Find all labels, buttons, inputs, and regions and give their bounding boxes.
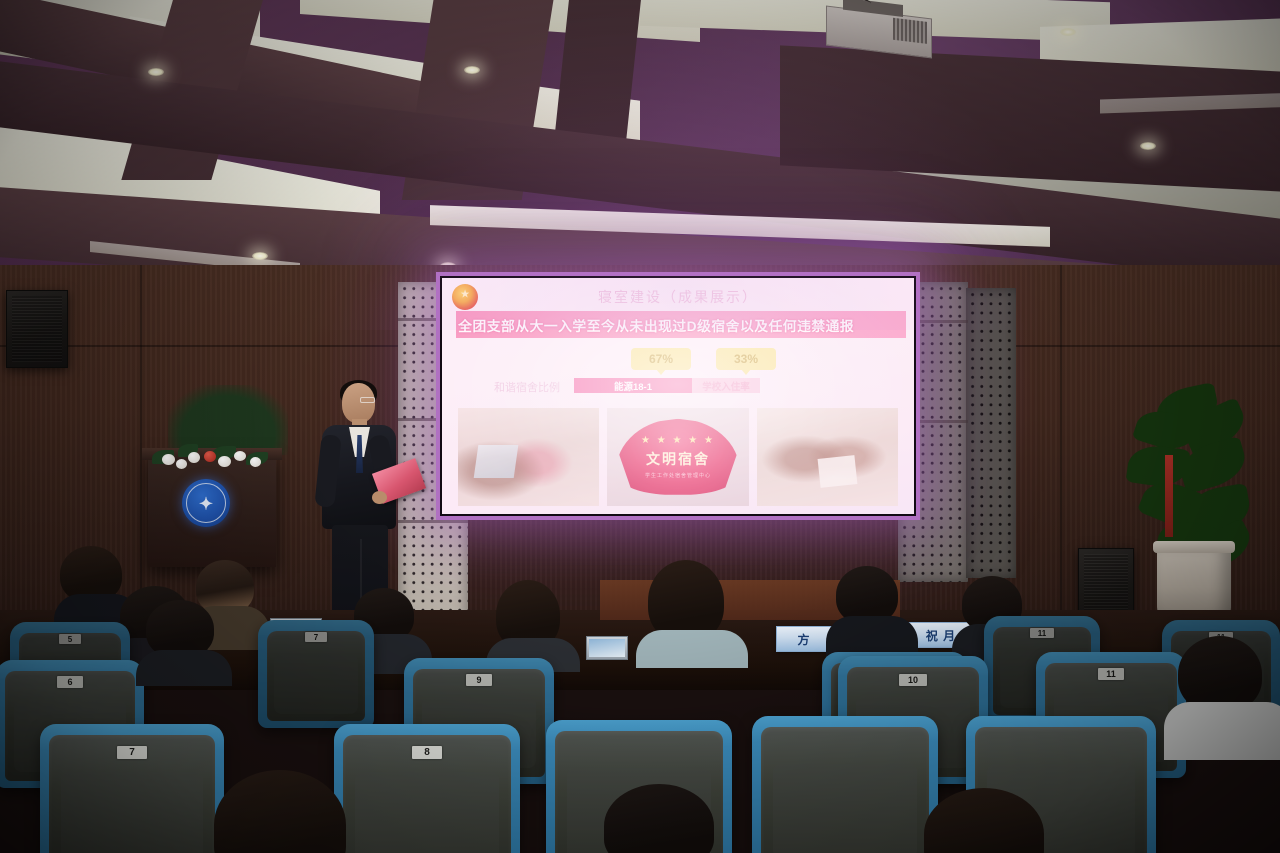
slide-photo-award-plaque: ★ ★ ★ ★ ★ 文明宿舍 学生工作处宿舍管理中心: [607, 408, 748, 506]
audience-member: [496, 580, 574, 666]
audience-member: [604, 784, 724, 853]
bar-segment: 能源18-1: [574, 378, 692, 393]
bar-axis-label: 和谐宿舍比例: [494, 379, 560, 395]
ceiling-downlight: [148, 68, 164, 76]
presenter: [316, 383, 402, 615]
slide-photo-dorm-desks: [458, 408, 599, 506]
civilized-dorm-plaque: ★ ★ ★ ★ ★ 文明宿舍 学生工作处宿舍管理中心: [616, 419, 740, 495]
ceiling-downlight: [1140, 142, 1156, 150]
slide-title: 寝室建设（成果展示）: [442, 287, 914, 307]
nameplate: 方: [776, 626, 832, 652]
slide-photo-students-reading: [757, 408, 898, 506]
laptop: [586, 636, 628, 660]
plaque-text: 文明宿舍: [646, 449, 710, 469]
ceiling-downlight: [464, 66, 480, 74]
presenter-glasses: [360, 397, 375, 403]
percent-callout: 33%: [716, 348, 776, 370]
audience-member: [924, 788, 1054, 853]
seat-number: 8: [412, 746, 442, 759]
seat-number: 5: [59, 634, 81, 644]
seat[interactable]: 10: [752, 716, 938, 853]
wall-speaker-left: [6, 290, 68, 368]
auditorium-scene: ★ 寝室建设（成果展示） 全团支部从大一入学至今从未出现过D级宿舍以及任何违禁通…: [0, 0, 1280, 853]
slide-banner: 全团支部从大一入学至今从未出现过D级宿舍以及任何违禁通报: [456, 311, 906, 338]
projection-screen: ★ 寝室建设（成果展示） 全团支部从大一入学至今从未出现过D级宿舍以及任何违禁通…: [436, 272, 920, 520]
audience-member: [836, 566, 910, 656]
seat-number: 10: [899, 674, 927, 686]
slide-photo-strip: ★ ★ ★ ★ ★ 文明宿舍 学生工作处宿舍管理中心: [458, 408, 898, 506]
slide-content: ★ 寝室建设（成果展示） 全团支部从大一入学至今从未出现过D级宿舍以及任何违禁通…: [442, 278, 914, 514]
plaque-stars: ★ ★ ★ ★ ★: [641, 436, 715, 446]
slide-bar-chart: 和谐宿舍比例 能源18-1 学校入住率: [442, 378, 914, 395]
red-hanging-tag: [1165, 455, 1173, 537]
ceiling: [0, 0, 1280, 290]
slide-banner-text: 全团支部从大一入学至今从未出现过D级宿舍以及任何违禁通报: [452, 315, 854, 335]
seat-number: 7: [117, 746, 147, 759]
seat[interactable]: 7: [40, 724, 224, 853]
audience-member: [1178, 636, 1278, 756]
seat-number: 6: [57, 676, 83, 688]
university-crest-icon: ✦: [182, 479, 230, 527]
presenter-head: [342, 383, 375, 423]
seat-number: 11: [1030, 628, 1054, 638]
nameplate-name: 方: [797, 631, 810, 648]
seat-number: 9: [466, 674, 492, 686]
audience-member: [146, 600, 226, 680]
ceiling-downlight: [1060, 28, 1076, 36]
acoustic-panel: [966, 288, 1016, 578]
audience-member: [648, 560, 740, 660]
seat-number: 11: [1098, 668, 1124, 680]
slide-percent-callouts: 67% 33%: [442, 348, 914, 374]
audience-member: [214, 770, 364, 853]
percent-callout: 67%: [631, 348, 691, 370]
bar-segment: 学校入住率: [692, 378, 760, 393]
flower-arrangement: [150, 440, 276, 474]
seat-number: 7: [305, 632, 327, 642]
ceiling-downlight: [252, 252, 268, 260]
crest-mark: ✦: [199, 495, 213, 512]
plaque-subtext: 学生工作处宿舍管理中心: [645, 472, 711, 479]
nameplate-name: 祝 月: [926, 627, 956, 644]
